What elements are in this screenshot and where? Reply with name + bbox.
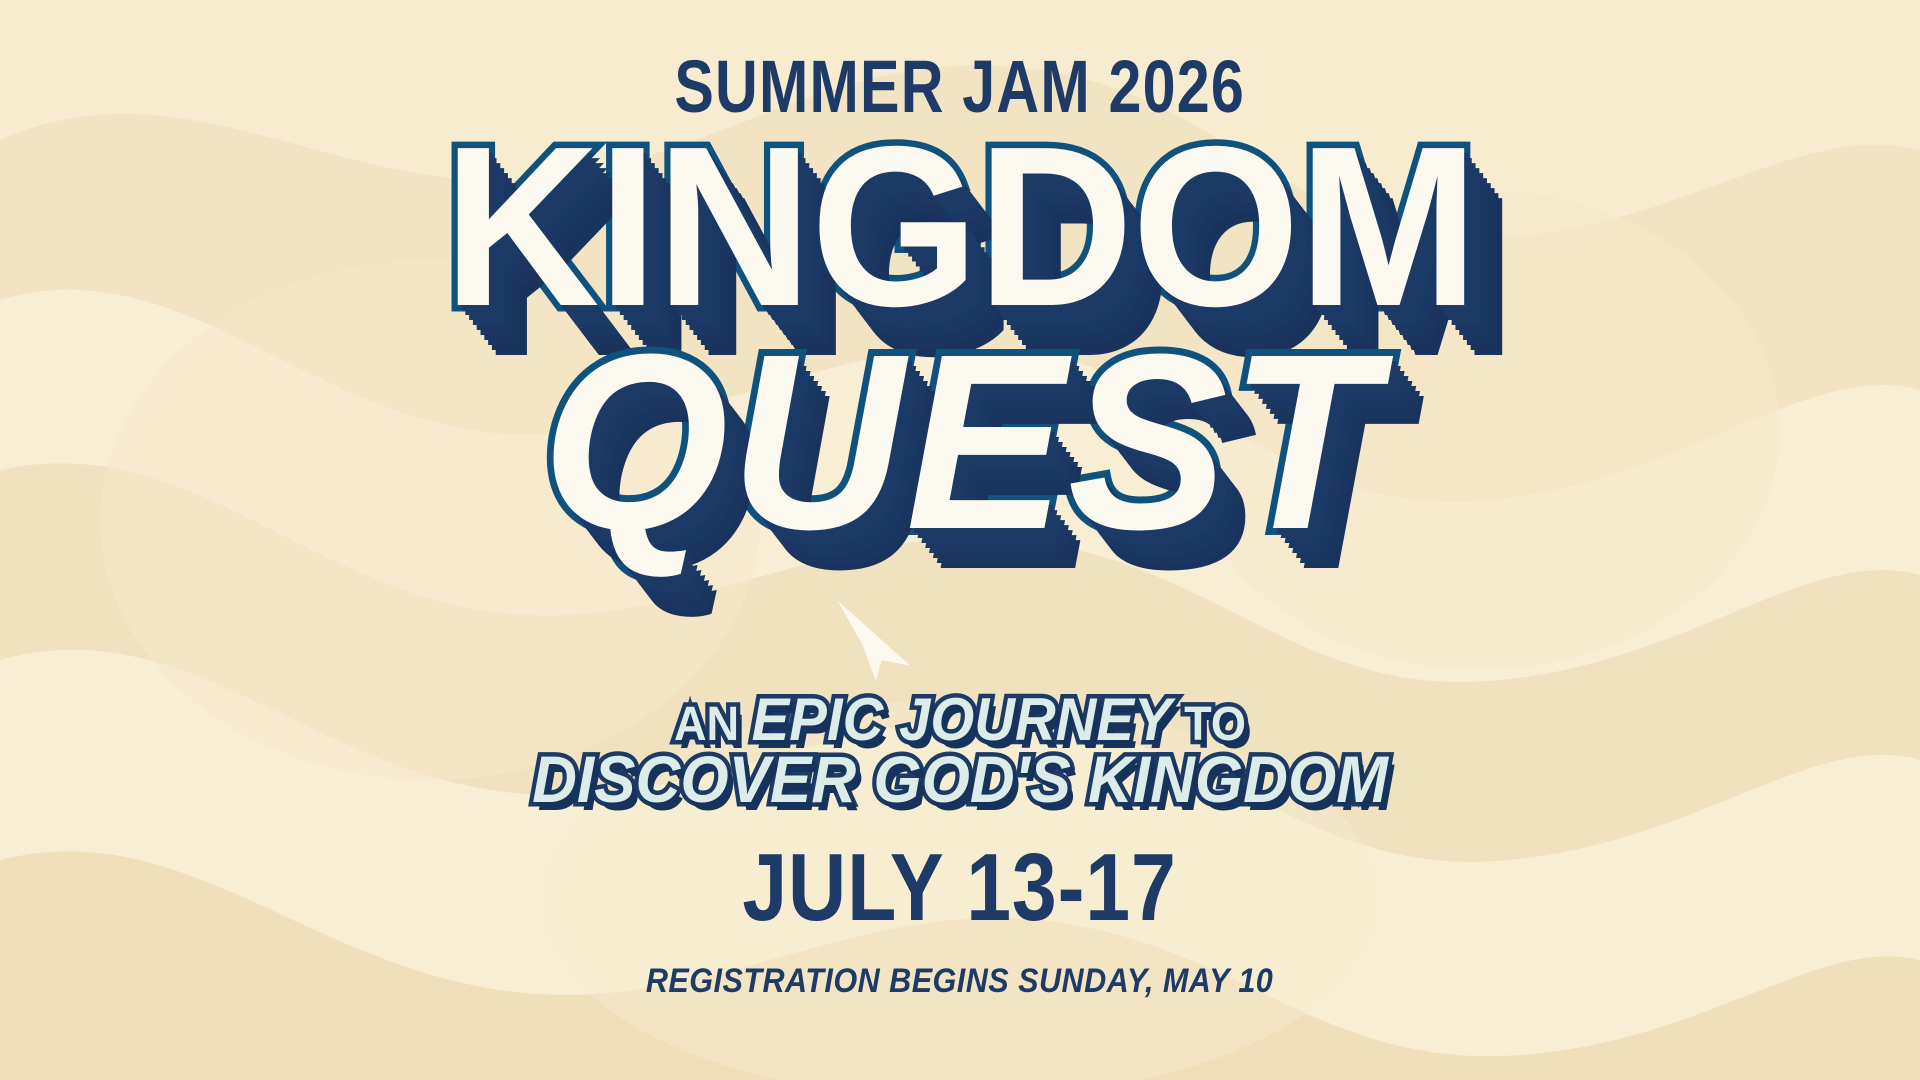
tagline-line-2: DISCOVER GOD'S KINGDOM: [58, 746, 1863, 812]
registration-note: REGISTRATION BEGINS SUNDAY, MAY 10: [0, 962, 1920, 1001]
poster-canvas: SUMMER JAM 2026 KINGDOM QUEST AN EPIC JO…: [0, 0, 1920, 1080]
tagline-group: AN EPIC JOURNEY TO DISCOVER GOD'S KINGDO…: [0, 690, 1920, 812]
title-line-kingdom: KINGDOM: [295, 134, 1625, 321]
event-dates-text: JULY 13-17: [743, 840, 1177, 936]
title-line-quest: QUEST: [288, 339, 1632, 544]
event-dates: JULY 13-17: [0, 840, 1920, 936]
tagline-line-1: AN EPIC JOURNEY TO: [58, 690, 1863, 750]
compass-needle-icon: [826, 589, 922, 685]
logo-lockup: KINGDOM QUEST: [260, 134, 1660, 654]
registration-note-text: REGISTRATION BEGINS SUNDAY, MAY 10: [646, 962, 1273, 1001]
